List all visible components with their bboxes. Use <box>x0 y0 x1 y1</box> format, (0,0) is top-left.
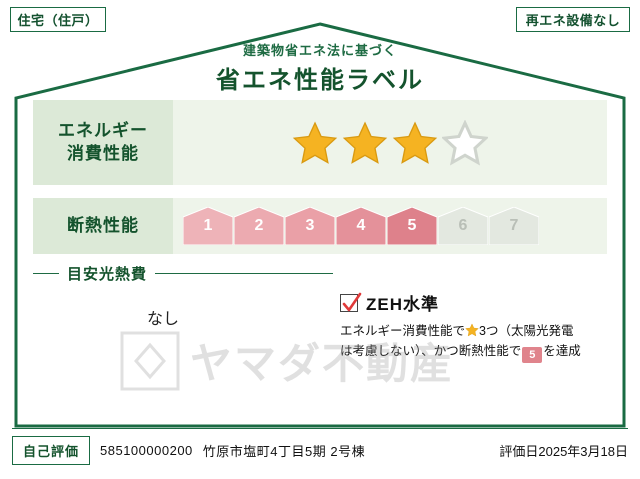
star-empty-4 <box>442 120 488 166</box>
grade-chip-2: 2 <box>234 207 284 245</box>
cost-value: なし <box>33 305 293 329</box>
footer: 自己評価 585100000200 竹原市塩町4丁目5期 2号棟 評価日2025… <box>12 434 628 466</box>
star-filled-1 <box>292 120 338 166</box>
grade-chip-7-label: 7 <box>510 217 519 235</box>
grade-chip-3: 3 <box>285 207 335 245</box>
cost-heading-rule-right <box>155 273 333 274</box>
cost-heading: 目安光熱費 <box>33 262 333 284</box>
zeh-description: エネルギー消費性能で3つ（太陽光発電 は考慮しない）、かつ断熱性能で5を達成 <box>340 321 610 363</box>
label-title: 省エネ性能ラベル <box>0 60 640 95</box>
row-insulation-performance: 断熱性能 1 2 3 4 <box>33 198 607 254</box>
cost-heading-rule-left <box>33 273 59 274</box>
grade-chip-4: 4 <box>336 207 386 245</box>
footer-address: 竹原市塩町4丁目5期 2号棟 <box>203 441 365 460</box>
footer-id: 585100000200 <box>100 443 193 458</box>
grade-chip-7: 7 <box>489 207 539 245</box>
zeh-block: ZEH水準 エネルギー消費性能で3つ（太陽光発電 は考慮しない）、かつ断熱性能で… <box>340 290 610 363</box>
zeh-checkbox[interactable] <box>340 294 358 312</box>
zeh-desc-part2: 3つ（太陽光発電 <box>479 324 573 338</box>
label-subtitle: 建築物省エネ法に基づく <box>0 40 640 59</box>
check-icon <box>342 292 362 316</box>
star-filled-2 <box>342 120 388 166</box>
zeh-desc-line2: は考慮しない）、かつ断熱性能で <box>340 344 521 358</box>
zeh-desc-chip: 5 <box>522 347 542 363</box>
row-energy-label-line1: エネルギー <box>58 120 148 143</box>
grade-chip-3-label: 3 <box>306 217 315 235</box>
zeh-desc-part1: エネルギー消費性能で <box>340 324 465 338</box>
energy-label-sheet: 住宅（住戸） 再エネ設備なし 建築物省エネ法に基づく 省エネ性能ラベル エネルギ… <box>0 0 640 479</box>
inline-star-icon <box>465 323 479 337</box>
star-filled-3 <box>392 120 438 166</box>
grade-chip-6-label: 6 <box>459 217 468 235</box>
grade-chip-1: 1 <box>183 207 233 245</box>
zeh-header: ZEH水準 <box>340 290 610 315</box>
grade-chip-5: 5 <box>387 207 437 245</box>
grade-chip-2-label: 2 <box>255 217 264 235</box>
footer-eval-date: 評価日2025年3月18日 <box>499 434 628 466</box>
row-energy-stars <box>173 100 607 185</box>
grade-chip-list: 1 2 3 4 5 <box>183 207 540 245</box>
row-insulation-label: 断熱性能 <box>33 198 173 254</box>
grade-chip-5-label: 5 <box>408 217 417 235</box>
cost-heading-text: 目安光熱費 <box>59 263 155 284</box>
row-energy-performance: エネルギー 消費性能 <box>33 100 607 185</box>
grade-chip-6: 6 <box>438 207 488 245</box>
grade-chip-4-label: 4 <box>357 217 366 235</box>
row-energy-label: エネルギー 消費性能 <box>33 100 173 185</box>
zeh-desc-end: を達成 <box>543 344 581 358</box>
row-insulation-grades: 1 2 3 4 5 <box>173 198 607 254</box>
zeh-title: ZEH水準 <box>366 290 439 315</box>
row-energy-label-line2: 消費性能 <box>58 143 148 166</box>
footer-rule <box>12 428 628 429</box>
grade-chip-1-label: 1 <box>204 217 213 235</box>
footer-badge: 自己評価 <box>12 436 90 465</box>
